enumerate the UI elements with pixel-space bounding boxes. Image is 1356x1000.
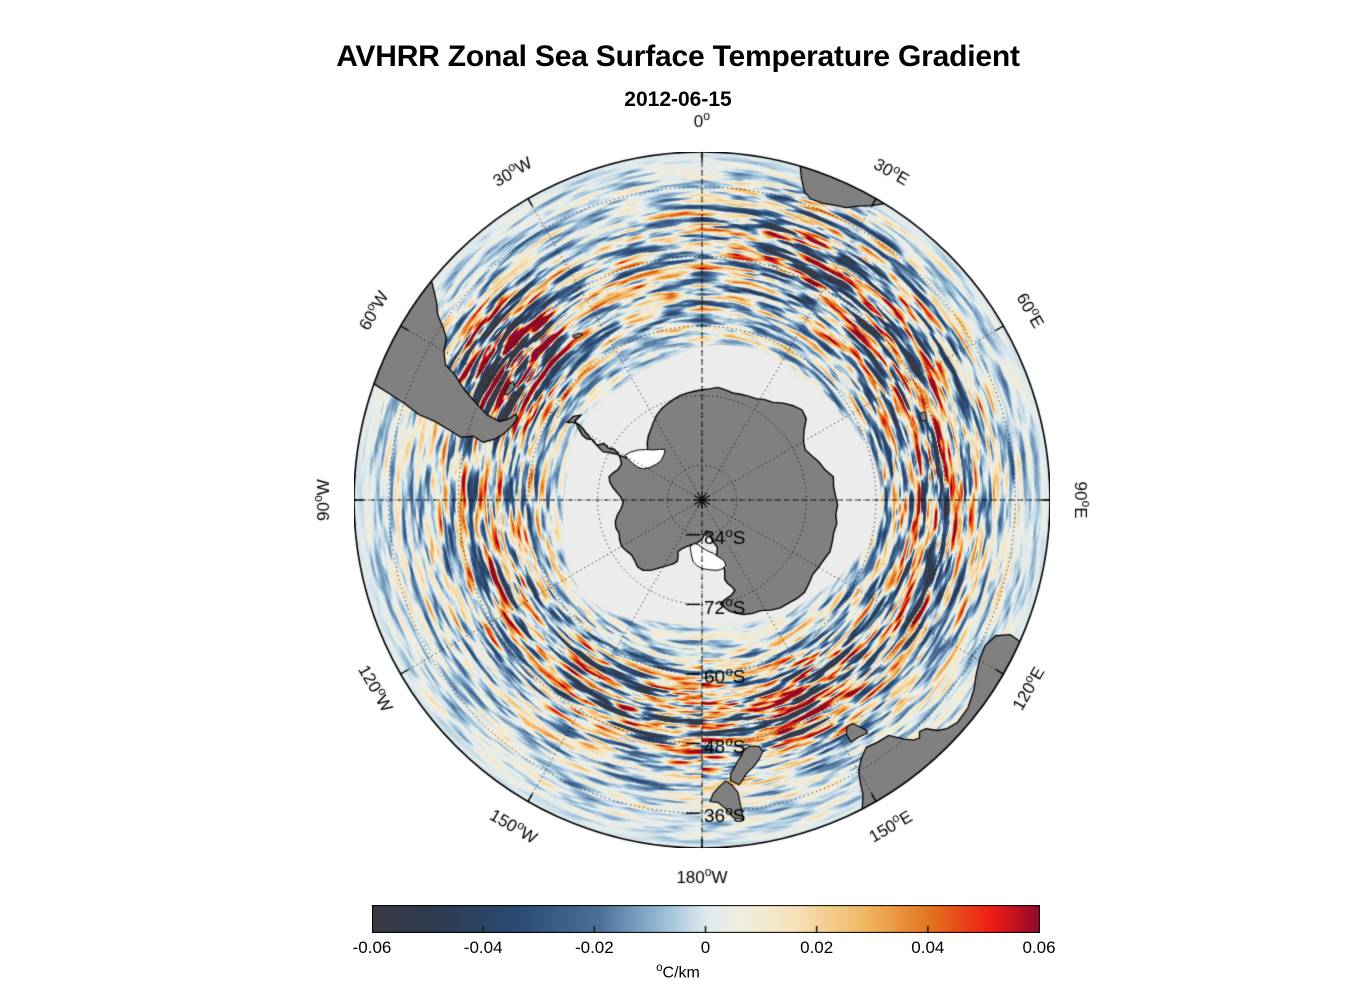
polar-stereographic-map	[354, 152, 1050, 848]
figure-root: AVHRR Zonal Sea Surface Temperature Grad…	[0, 0, 1356, 1000]
figure-subtitle-date: 2012-06-15	[0, 88, 1356, 112]
colorbar-tick-label: -0.04	[464, 938, 503, 958]
colorbar-unit-label: oC/km	[0, 962, 1356, 982]
colorbar-tick-label: -0.06	[353, 938, 392, 958]
colorbar-tick-label: 0.04	[911, 938, 944, 958]
colorbar-tick-label: -0.02	[575, 938, 614, 958]
colorbar-gradient	[372, 905, 1040, 933]
colorbar-tick-label: 0.06	[1022, 938, 1055, 958]
page-title: AVHRR Zonal Sea Surface Temperature Grad…	[0, 40, 1356, 74]
colorbar-tick-label: 0	[701, 938, 710, 958]
colorbar-tick-label: 0.02	[800, 938, 833, 958]
